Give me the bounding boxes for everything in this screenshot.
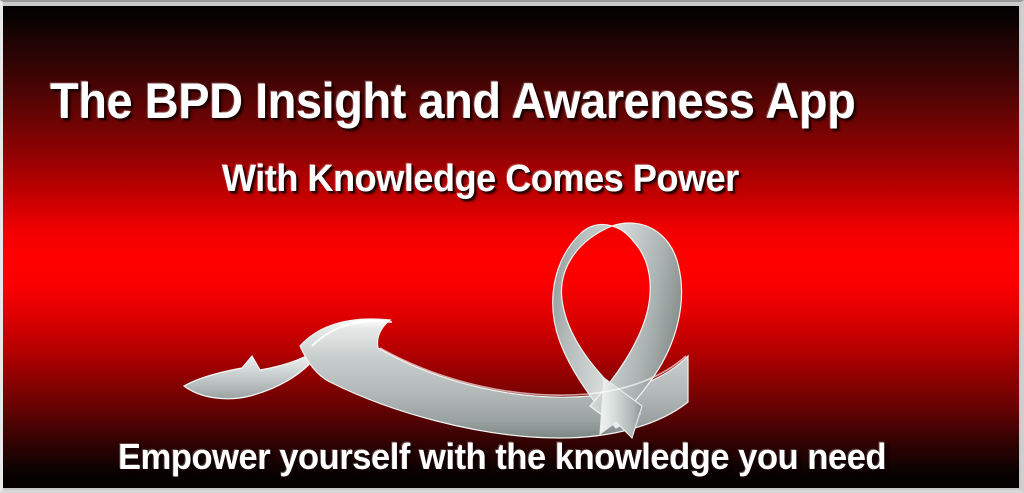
banner-tagline: Empower yourself with the knowledge you … — [118, 436, 886, 478]
banner-subtitle: With Knowledge Comes Power — [222, 157, 739, 201]
awareness-ribbon-icon — [180, 206, 710, 446]
banner-title: The BPD Insight and Awareness App — [50, 73, 855, 129]
awareness-ribbon-graphic — [180, 206, 710, 446]
app-banner: The BPD Insight and Awareness App With K… — [0, 0, 1024, 493]
